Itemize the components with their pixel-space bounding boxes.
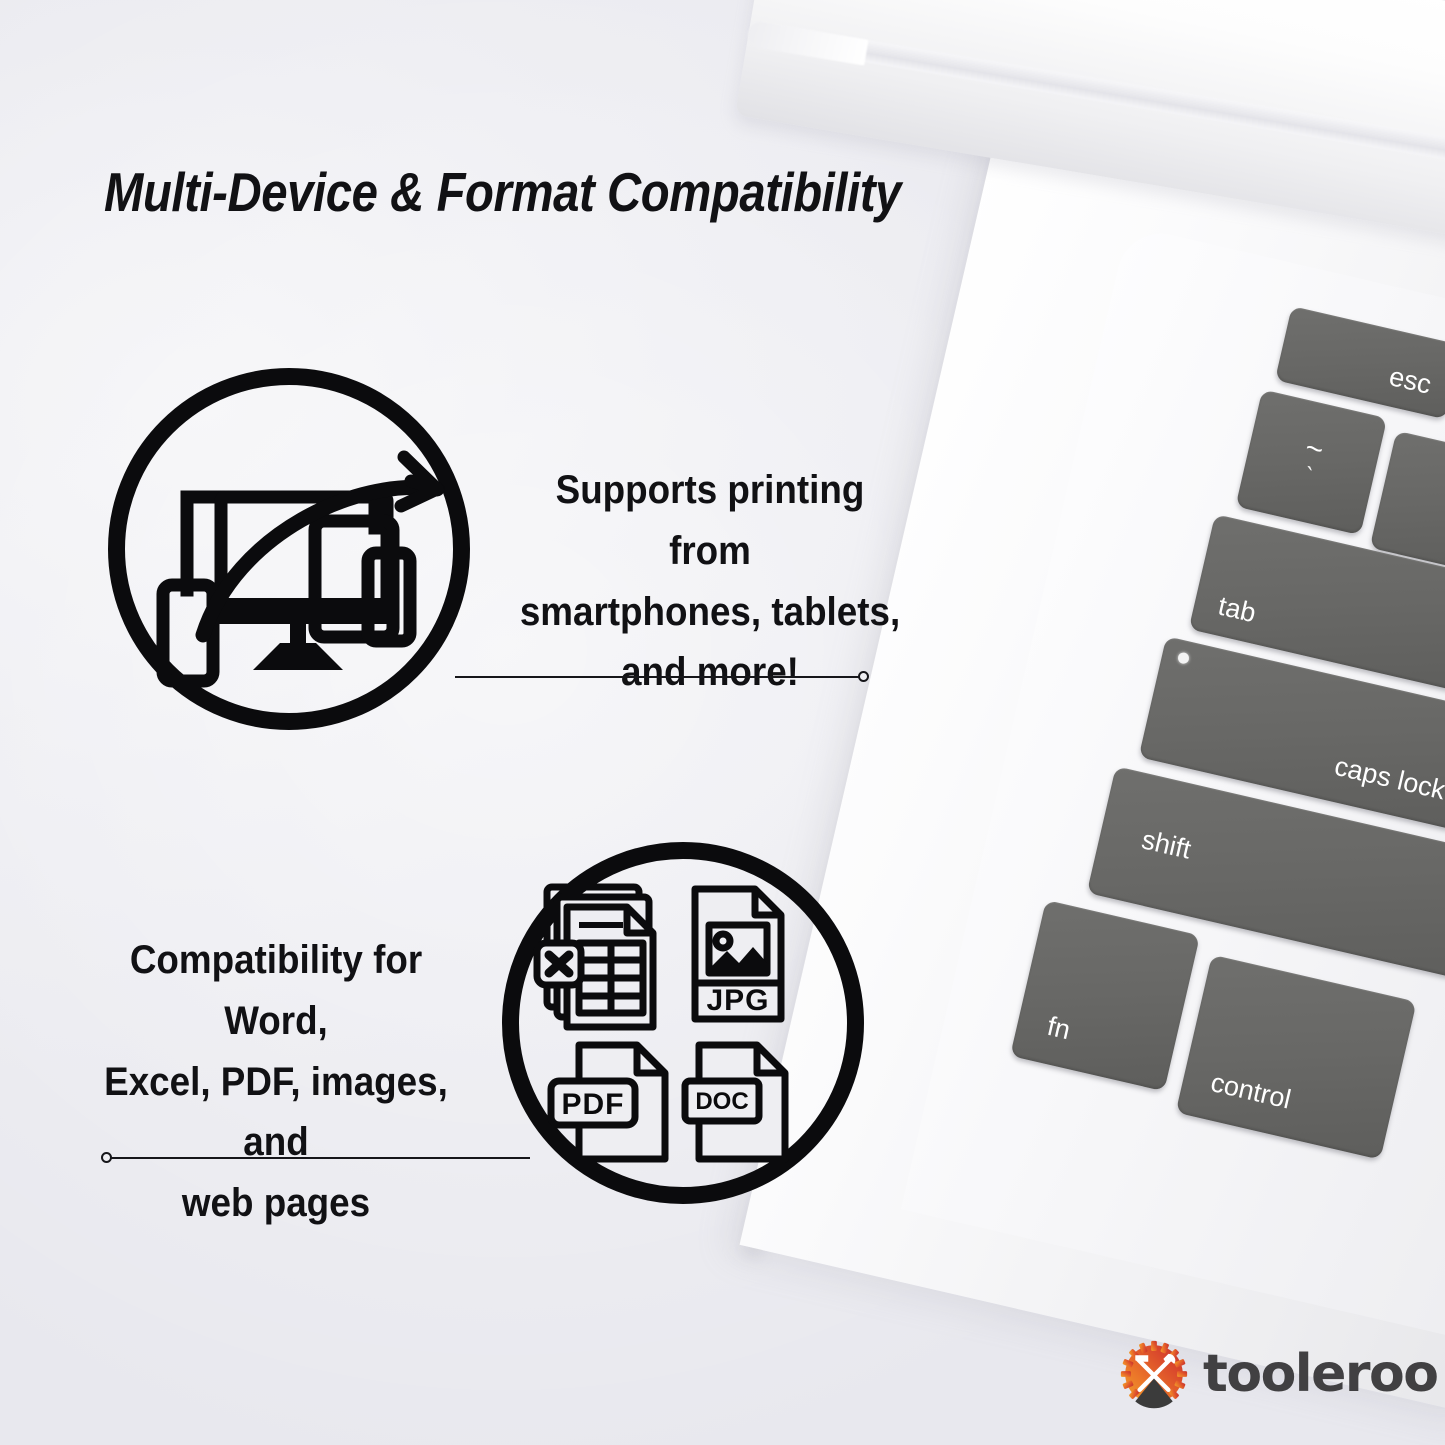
brand-wordmark: tooleroo [1203,1344,1438,1404]
leader-line-bottom [110,1157,530,1159]
format-compatibility-caption: Compatibility for Word, Excel, PDF, imag… [92,930,460,1234]
brand-logo[interactable]: tooleroo [1118,1338,1438,1410]
caption-line: Supports printing from [517,460,903,582]
caption-line: Excel, PDF, images, and [92,1052,460,1174]
caption-line: and more! [517,642,903,703]
tooleroo-gear-hammer-wrench-logo [1118,1338,1190,1410]
file-formats-icon: JPG PDF DOC [519,859,847,1187]
caption-line: smartphones, tablets, [517,582,903,643]
file-formats-icon-circle: JPG PDF DOC [502,842,864,1204]
svg-text:JPG: JPG [706,984,769,1017]
infographic-overlay: Multi-Device & Format Compatibility [0,0,1445,1445]
leader-dot-top [858,671,869,682]
page-title: Multi-Device & Format Compatibility [104,160,901,224]
svg-text:DOC: DOC [695,1088,748,1115]
leader-dot-bottom [101,1152,112,1163]
multi-device-caption: Supports printing from smartphones, tabl… [517,460,903,703]
caption-line: web pages [92,1173,460,1234]
svg-text:PDF: PDF [562,1088,625,1121]
multi-device-connectivity-icon [125,385,453,713]
leader-line-top [455,676,863,678]
caption-line: Compatibility for Word, [92,930,460,1052]
multi-device-icon-circle [108,368,470,730]
